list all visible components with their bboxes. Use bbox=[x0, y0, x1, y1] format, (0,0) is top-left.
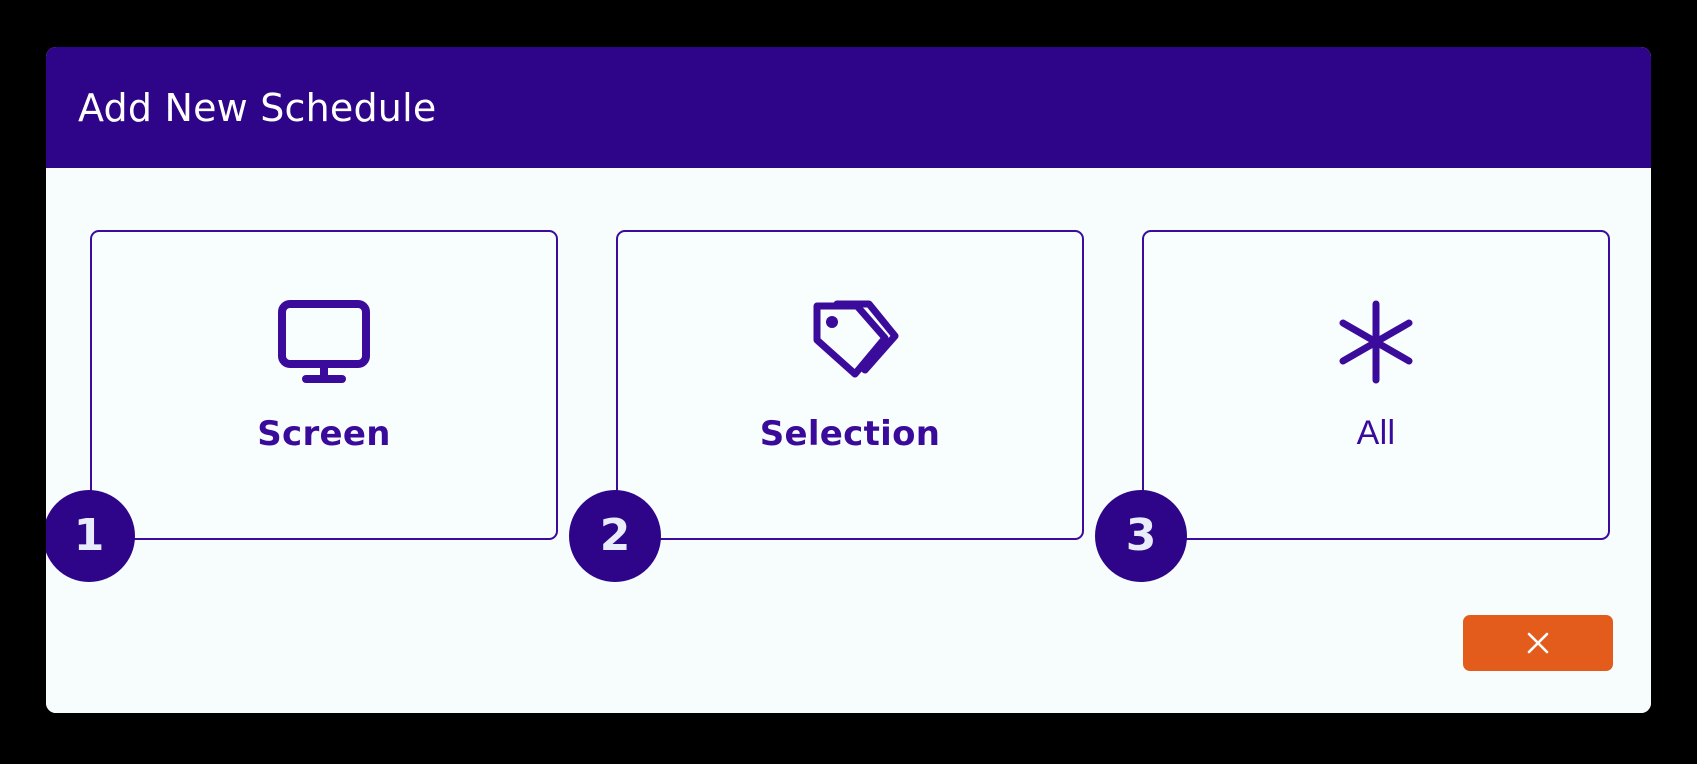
step-badge-2: 2 bbox=[569, 490, 661, 582]
option-card-all[interactable]: All bbox=[1142, 230, 1610, 540]
close-button[interactable] bbox=[1463, 615, 1613, 671]
monitor-icon bbox=[269, 292, 379, 392]
add-new-schedule-dialog: Add New Schedule Screen bbox=[46, 47, 1651, 713]
close-x-icon bbox=[1521, 626, 1555, 660]
schedule-type-options: Screen 1 bbox=[90, 230, 1610, 540]
dialog-header: Add New Schedule bbox=[46, 47, 1651, 168]
option-all-wrapper: All 3 bbox=[1142, 230, 1610, 540]
dialog-footer bbox=[1463, 615, 1613, 671]
step-badge-1: 1 bbox=[46, 490, 135, 582]
option-card-screen[interactable]: Screen bbox=[90, 230, 558, 540]
option-label-selection: Selection bbox=[760, 414, 941, 454]
screen-backdrop: Add New Schedule Screen bbox=[0, 0, 1697, 764]
page-title: Add New Schedule bbox=[78, 89, 436, 127]
option-screen-wrapper: Screen 1 bbox=[90, 230, 558, 540]
step-badge-3: 3 bbox=[1095, 490, 1187, 582]
option-card-selection[interactable]: Selection bbox=[616, 230, 1084, 540]
option-selection-wrapper: Selection 2 bbox=[616, 230, 1084, 540]
tags-icon bbox=[795, 292, 905, 392]
option-label-all: All bbox=[1357, 414, 1396, 453]
asterisk-icon bbox=[1321, 292, 1431, 392]
dialog-body: Screen 1 bbox=[46, 168, 1651, 713]
option-label-screen: Screen bbox=[257, 414, 391, 454]
